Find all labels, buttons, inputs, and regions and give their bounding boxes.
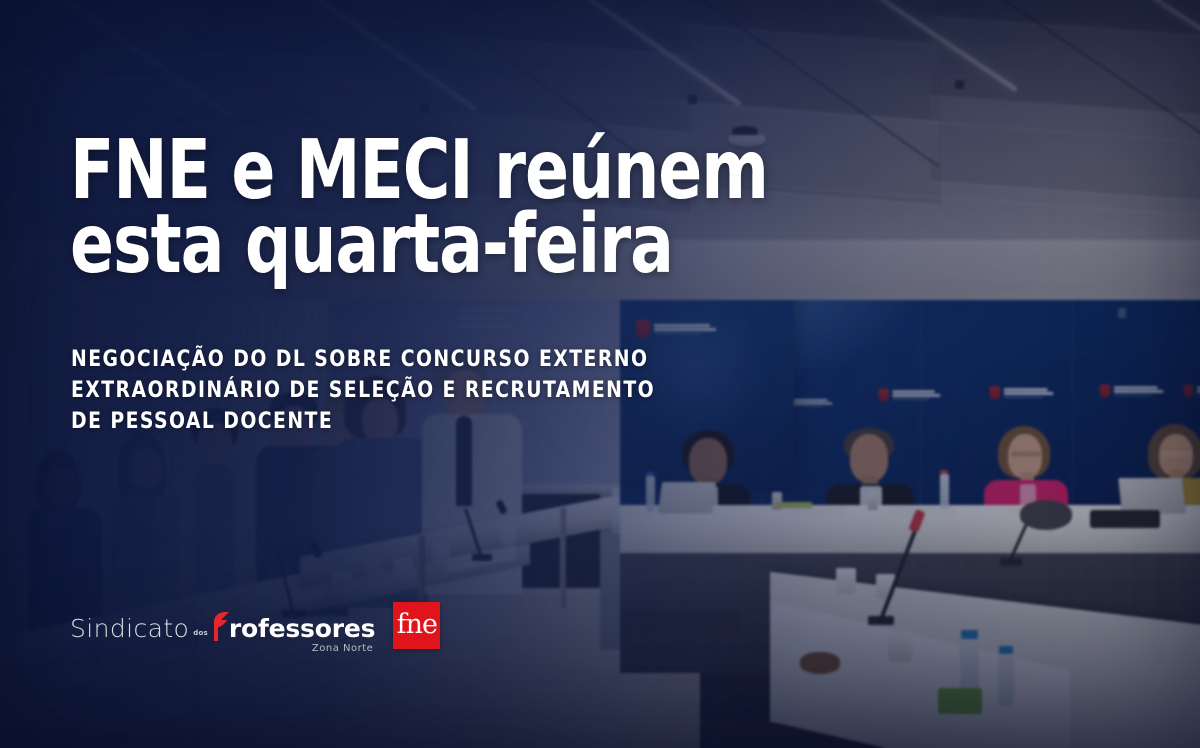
news-banner: FNE e MECI reúnem esta quarta-feira NEGO… xyxy=(0,0,1200,748)
subtitle-line-1: NEGOCIAÇÃO DO DL SOBRE CONCURSO EXTERNO xyxy=(71,344,685,375)
logo-professores-text: rofessores xyxy=(229,616,375,641)
logo-lockup: Sindicato dos rofessores Zona Norte fne xyxy=(70,602,440,649)
subtitle-line-3: DE PESSOAL DOCENTE xyxy=(71,406,685,437)
fne-logo: fne xyxy=(393,602,440,649)
subtitle-line-2: EXTRAORDINÁRIO DE SELEÇÃO E RECRUTAMENTO xyxy=(71,375,685,406)
fne-logo-text: fne xyxy=(397,611,437,638)
page-title: FNE e MECI reúnem esta quarta-feira xyxy=(70,134,686,282)
banner-content: FNE e MECI reúnem esta quarta-feira NEGO… xyxy=(0,0,1200,748)
subtitle: NEGOCIAÇÃO DO DL SOBRE CONCURSO EXTERNO … xyxy=(71,344,685,437)
logo-dos-text: dos xyxy=(193,630,208,637)
professores-p-mark-icon xyxy=(210,611,230,641)
headline-line-2: esta quarta-feira xyxy=(70,208,686,282)
sindicato-professores-logo: Sindicato dos rofessores Zona Norte xyxy=(70,611,375,641)
logo-sindicato-text: Sindicato xyxy=(70,616,189,641)
logo-region-text: Zona Norte xyxy=(312,644,373,654)
